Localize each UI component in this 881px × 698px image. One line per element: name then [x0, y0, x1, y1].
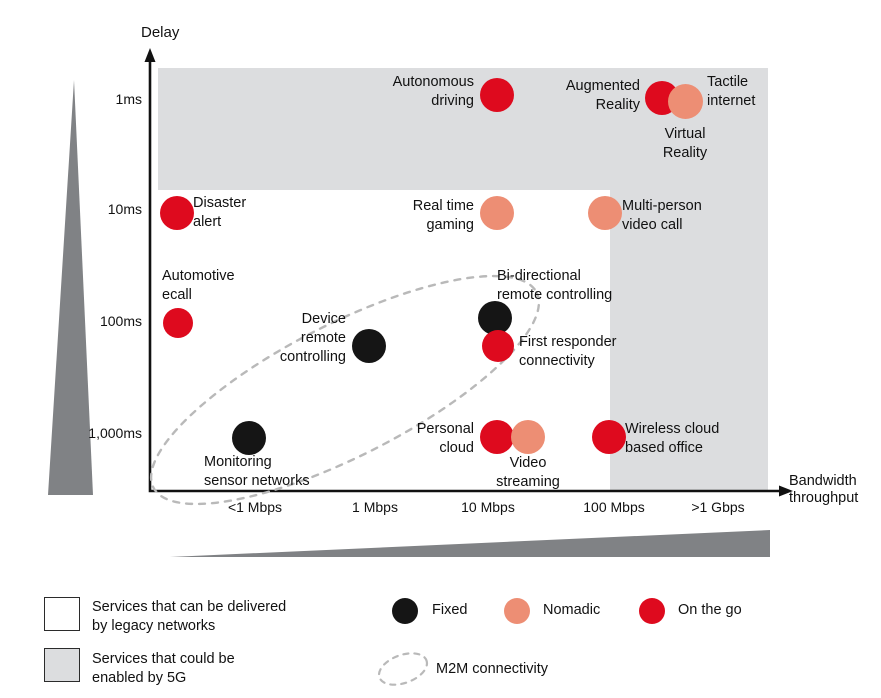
diagram-canvas: Delay Bandwidth throughput 1ms 10ms 100m… [0, 0, 881, 698]
label-tactile-internet-line1: Tactile [707, 74, 857, 92]
y-tick-1000ms: 1,000ms [30, 425, 142, 441]
label-personal-cloud-line2: cloud [338, 440, 474, 458]
label-multi-person-video-call-line2: video call [622, 217, 792, 235]
label-virtual-reality-line2: Reality [620, 145, 750, 163]
point-multi-person-video-call[interactable] [588, 196, 622, 230]
label-first-responder-connectivity-line1: First responder [519, 334, 709, 352]
label-real-time-gaming-line1: Real time [336, 198, 474, 216]
point-automotive-ecall[interactable] [163, 308, 193, 338]
y-tick-100ms: 100ms [38, 313, 142, 329]
point-wireless-cloud-based-office[interactable] [592, 420, 626, 454]
label-device-remote-controlling-line2: remote [210, 330, 346, 348]
legend-legacy-line2: by legacy networks [92, 617, 392, 636]
label-wireless-cloud-based-office-line1: Wireless cloud [625, 421, 815, 439]
label-video-streaming-line2: streaming [463, 474, 593, 492]
bandwidth-wedge-triangle [170, 530, 770, 557]
label-virtual-reality-line1: Virtual [620, 126, 750, 144]
label-first-responder-connectivity-line2: connectivity [519, 353, 709, 371]
legend-swatch-5g [44, 648, 80, 682]
x-tick-10mbps: 10 Mbps [418, 499, 558, 515]
label-disaster-alert-line1: Disaster [193, 195, 343, 213]
y-axis-title: Delay [141, 24, 179, 41]
label-tactile-internet-line2: internet [707, 93, 857, 111]
label-autonomous-driving-line1: Autonomous [330, 74, 474, 92]
label-augmented-reality-line2: Reality [496, 97, 640, 115]
legend-swatch-legacy [44, 597, 80, 631]
label-autonomous-driving-line2: driving [330, 93, 474, 111]
point-real-time-gaming[interactable] [480, 196, 514, 230]
label-automotive-ecall-line2: ecall [162, 287, 322, 305]
x-tick-lt1mbps: <1 Mbps [185, 499, 325, 515]
label-video-streaming-line1: Video [463, 455, 593, 473]
label-monitoring-sensor-networks-line2: sensor networks [204, 473, 384, 491]
legend-legacy-line1: Services that can be delivered [92, 598, 392, 617]
legend-label-on-the-go: On the go [678, 601, 818, 620]
y-tick-10ms: 10ms [38, 201, 142, 217]
legend-label-fixed: Fixed [432, 601, 552, 620]
point-personal-cloud[interactable] [480, 420, 514, 454]
point-device-remote-controlling[interactable] [352, 329, 386, 363]
legend-5g-line1: Services that could be [92, 650, 392, 669]
x-tick-gt1gbps: >1 Gbps [648, 499, 788, 515]
label-real-time-gaming-line2: gaming [336, 217, 474, 235]
label-device-remote-controlling-line3: controlling [210, 349, 346, 367]
label-augmented-reality-line1: Augmented [496, 78, 640, 96]
point-video-streaming[interactable] [511, 420, 545, 454]
point-monitoring-sensor-networks[interactable] [232, 421, 266, 455]
point-disaster-alert[interactable] [160, 196, 194, 230]
legend-dot-on-the-go [639, 598, 665, 624]
label-device-remote-controlling-line1: Device [210, 311, 346, 329]
legend-dot-nomadic [504, 598, 530, 624]
legend-label-m2m: M2M connectivity [436, 660, 676, 679]
legend-5g-line2: enabled by 5G [92, 669, 392, 688]
y-tick-1ms: 1ms [38, 91, 142, 107]
label-multi-person-video-call-line1: Multi-person [622, 198, 792, 216]
legend-dot-fixed [392, 598, 418, 624]
point-virtual-reality[interactable] [668, 84, 703, 119]
y-axis-arrowhead [145, 48, 156, 62]
x-axis-title-line1: Bandwidth [789, 473, 857, 490]
label-automotive-ecall-line1: Automotive [162, 268, 322, 286]
point-first-responder-connectivity[interactable] [482, 330, 514, 362]
label-bidirectional-remote-controlling-line2: remote controlling [497, 287, 687, 305]
label-bidirectional-remote-controlling-line1: Bi-directional [497, 268, 687, 286]
x-axis-title-line2: throughput [789, 490, 858, 507]
label-personal-cloud-line1: Personal [338, 421, 474, 439]
label-disaster-alert-line2: alert [193, 214, 343, 232]
label-wireless-cloud-based-office-line2: based office [625, 440, 815, 458]
